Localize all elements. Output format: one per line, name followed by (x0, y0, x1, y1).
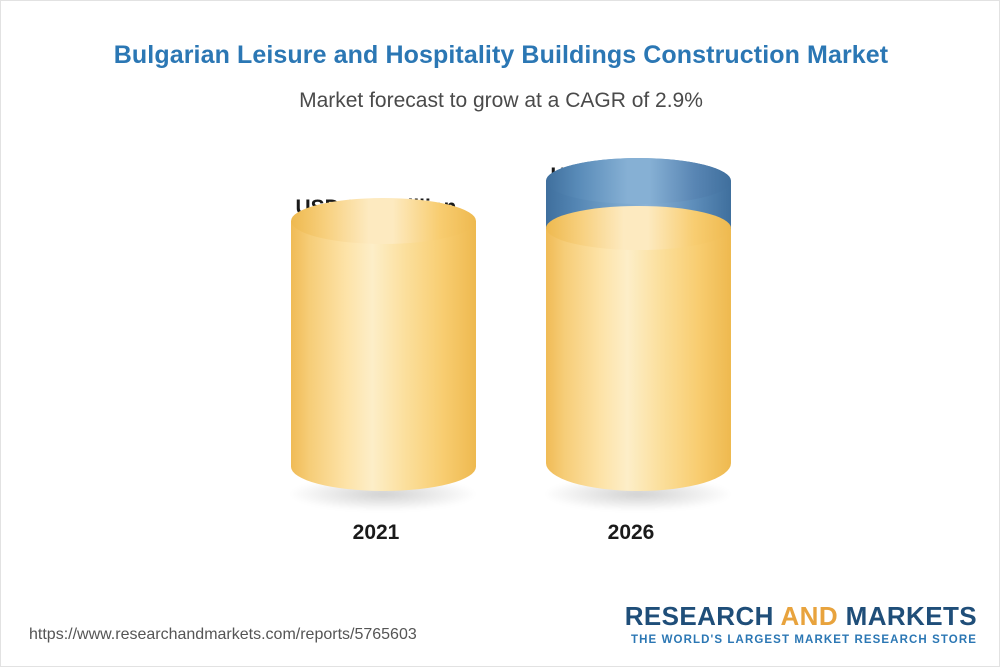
bar-cylinder-2026 (546, 181, 731, 491)
bar-category-label-2026: 2026 (471, 521, 791, 545)
bar-group-2026: USD 0.22 Billion 2026 (471, 141, 791, 571)
logo-and-text: AND (780, 601, 838, 631)
bar-body-2021 (291, 221, 476, 491)
logo-research-text: RESEARCH (625, 601, 774, 631)
logo-tagline: THE WORLD'S LARGEST MARKET RESEARCH STOR… (625, 635, 977, 647)
page-subtitle: Market forecast to grow at a CAGR of 2.9… (1, 89, 1000, 113)
logo-markets-text: MARKETS (846, 601, 977, 631)
bar-segment-divider-2026 (546, 206, 731, 250)
chart-page: Bulgarian Leisure and Hospitality Buildi… (0, 0, 1000, 667)
bar-top-ellipse-2021 (291, 198, 476, 244)
bar-cylinder-2021 (291, 221, 476, 491)
page-title: Bulgarian Leisure and Hospitality Buildi… (1, 41, 1000, 70)
chart-area: USD 0.19 Billion 2021 USD 0.22 Billion 2… (1, 141, 1000, 571)
source-url[interactable]: https://www.researchandmarkets.com/repor… (29, 626, 417, 644)
bar-top-ellipse-upper-2026 (546, 158, 731, 204)
logo-wordmark: RESEARCH AND MARKETS (625, 603, 977, 629)
brand-logo: RESEARCH AND MARKETS THE WORLD'S LARGEST… (625, 603, 977, 647)
